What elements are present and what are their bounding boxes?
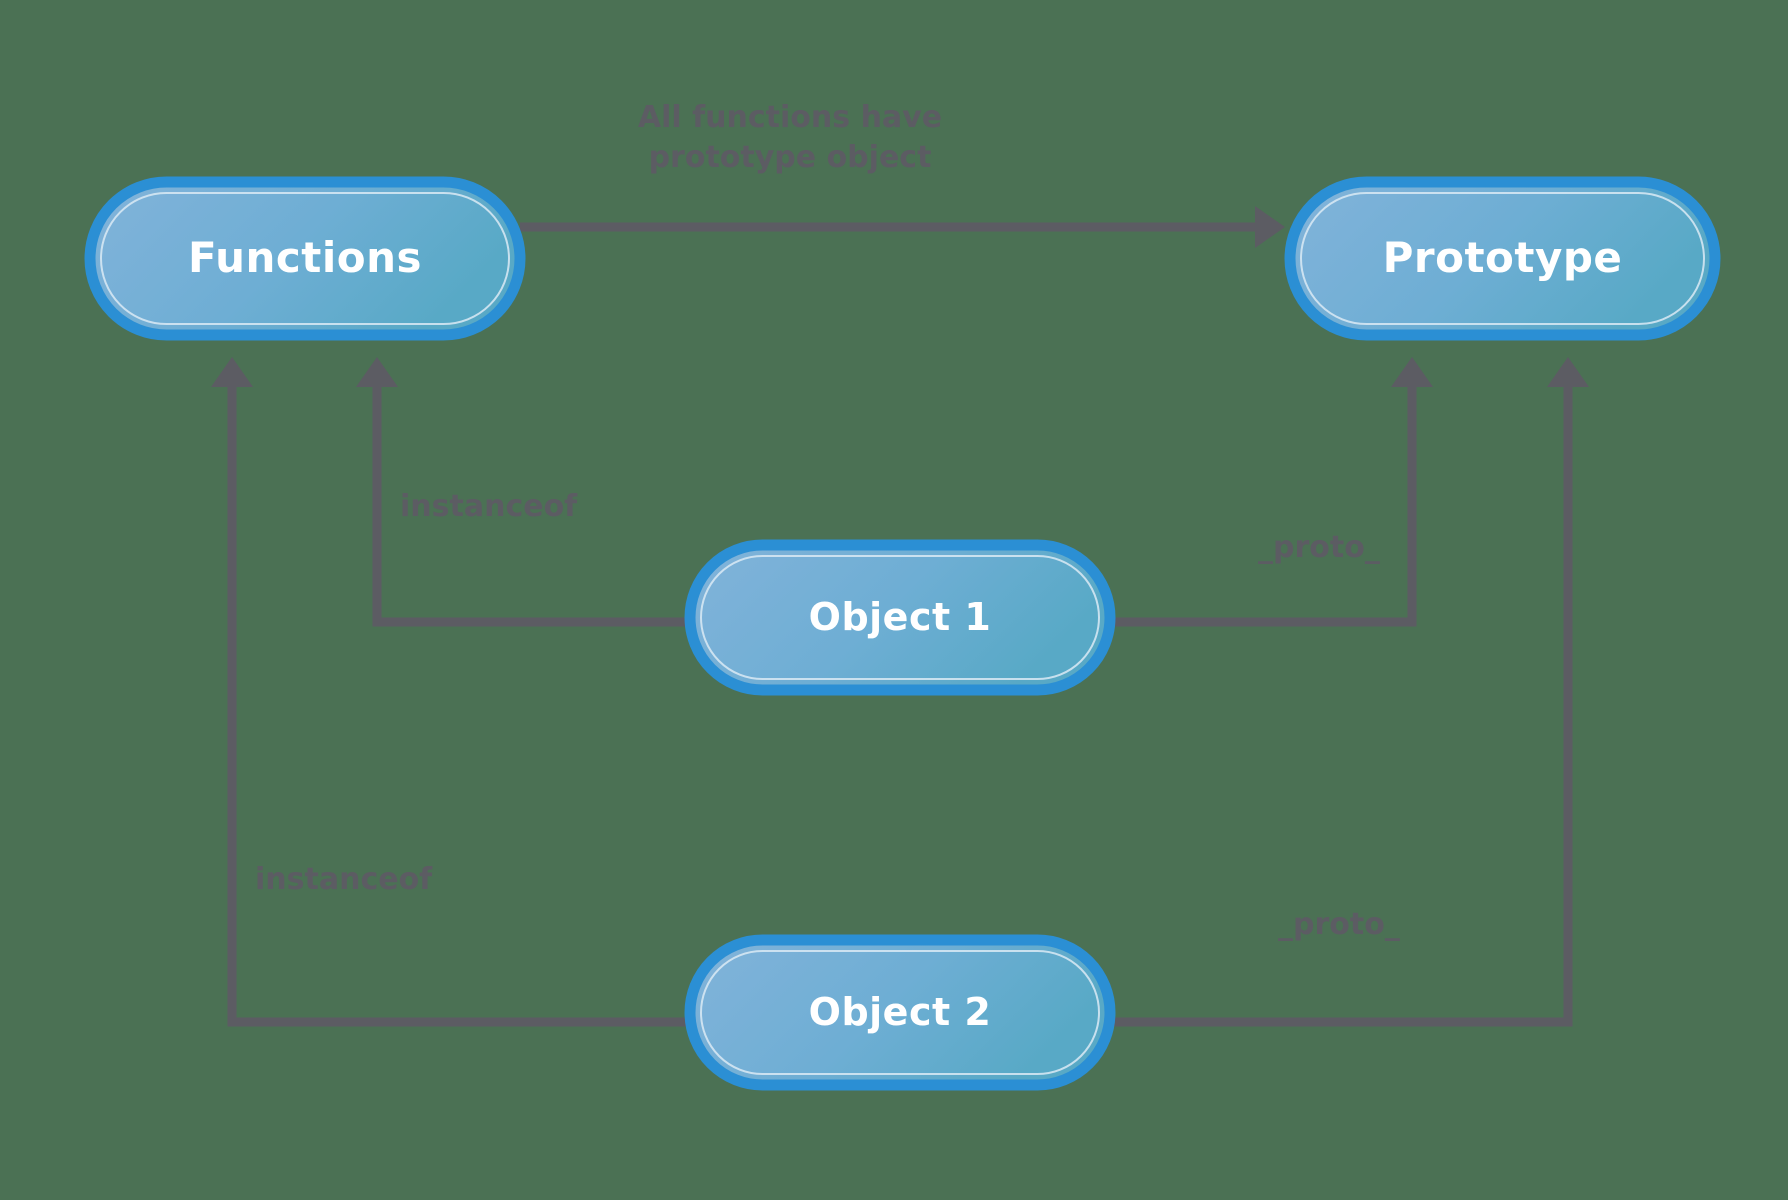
edge-label-line: _proto_ (1278, 907, 1400, 942)
node-object1[interactable]: Object 1 (690, 545, 1110, 690)
diagram-canvas: FunctionsPrototypeObject 1Object 2 All f… (0, 0, 1788, 1200)
edge-line (232, 372, 690, 1022)
edge-label-functions-to-prototype: All functions haveprototype object (638, 100, 942, 175)
edge-label-line: All functions have (638, 100, 942, 135)
edge-functions-to-prototype (520, 206, 1285, 248)
arrowhead-icon (1391, 357, 1433, 387)
edge-line (1110, 372, 1412, 622)
edge-label-line: instanceof (255, 862, 433, 897)
node-functions[interactable]: Functions (90, 182, 520, 335)
arrowhead-icon (1255, 206, 1285, 248)
prototype-diagram: FunctionsPrototypeObject 1Object 2 All f… (0, 0, 1788, 1200)
edge-label-line: _proto_ (1258, 530, 1380, 565)
node-label-object1: Object 1 (809, 595, 992, 639)
edge-label-object1-instanceof-functions: instanceof (400, 489, 578, 524)
edge-label-object1-proto-prototype: _proto_ (1258, 530, 1380, 565)
edge-label-line: prototype object (649, 140, 932, 175)
edge-object2-instanceof-functions (211, 357, 690, 1022)
node-label-prototype: Prototype (1383, 233, 1623, 282)
edge-label-object2-proto-prototype: _proto_ (1278, 907, 1400, 942)
node-prototype[interactable]: Prototype (1290, 182, 1715, 335)
node-label-object2: Object 2 (809, 990, 992, 1034)
edge-object1-proto-prototype (1110, 357, 1433, 622)
edge-label-object2-instanceof-functions: instanceof (255, 862, 433, 897)
arrowhead-icon (356, 357, 398, 387)
nodes-layer: FunctionsPrototypeObject 1Object 2 (90, 182, 1715, 1085)
edge-label-line: instanceof (400, 489, 578, 524)
node-object2[interactable]: Object 2 (690, 940, 1110, 1085)
node-label-functions: Functions (188, 233, 422, 282)
arrowhead-icon (211, 357, 253, 387)
arrowhead-icon (1547, 357, 1589, 387)
